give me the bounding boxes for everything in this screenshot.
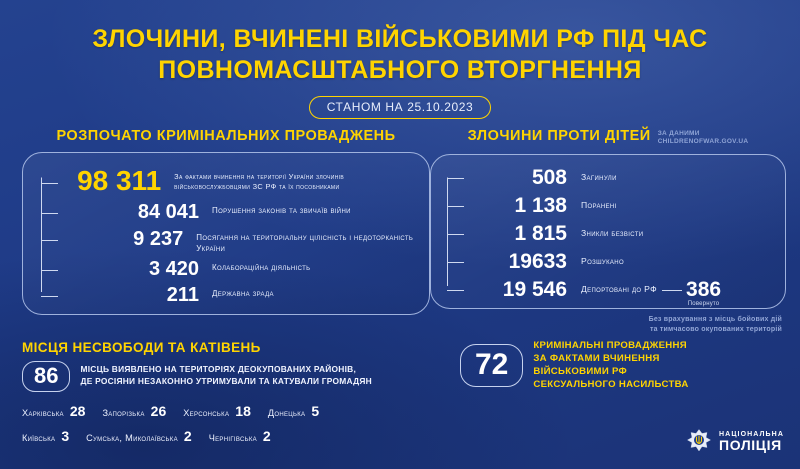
region-item: Київська 3 <box>22 428 69 444</box>
children-heading: ЗЛОЧИНИ ПРОТИ ДІТЕЙ <box>468 128 651 144</box>
logo-text: НАЦІОНАЛЬНА ПОЛІЦІЯ <box>719 431 784 453</box>
region-value: 26 <box>151 403 167 419</box>
children-label-missing: Зникли безвісти <box>567 223 643 239</box>
bracket-tick-icon <box>41 296 58 297</box>
criminal-proceedings-rows: 98 311 За фактами вчинення на території … <box>41 167 415 304</box>
children-value-killed: 508 <box>471 167 567 188</box>
children-value-missing: 1 815 <box>471 223 567 244</box>
section-crimes-against-children: ЗЛОЧИНИ ПРОТИ ДІТЕЙ ЗА ДАНИМИ CHILDRENOF… <box>430 128 800 334</box>
proceedings-value-collaboration: 3 420 <box>67 259 199 279</box>
children-value-returned: 386 <box>686 278 721 301</box>
region-name: Запорізька <box>102 408 144 418</box>
sexual-violence-count-badge: 72 <box>460 344 523 387</box>
children-heading-wrap: ЗЛОЧИНИ ПРОТИ ДІТЕЙ ЗА ДАНИМИ CHILDRENOF… <box>430 128 786 146</box>
proceedings-value-war-laws: 84 041 <box>67 202 199 222</box>
region-value: 18 <box>235 403 251 419</box>
page-title: ЗЛОЧИНИ, ВЧИНЕНІ ВІЙСЬКОВИМИ РФ ПІД ЧАС … <box>0 24 800 85</box>
list-item: 508 Загинули <box>471 167 773 188</box>
detention-count-row: 86 МІСЦЬ ВИЯВЛЕНО НА ТЕРИТОРІЯХ ДЕОКУПОВ… <box>22 361 440 392</box>
bracket-line-icon <box>41 177 59 292</box>
list-item: 9 237 Посягання на територіальну цілісні… <box>67 229 415 254</box>
proceedings-value-territorial: 9 237 <box>67 229 183 249</box>
region-name: Донецька <box>268 408 306 418</box>
sexual-violence-row: 72 КРИМІНАЛЬНІ ПРОВАДЖЕННЯ ЗА ФАКТАМИ ВЧ… <box>460 340 800 391</box>
criminal-proceedings-panel: 98 311 За фактами вчинення на території … <box>22 152 430 315</box>
title-line-1: ЗЛОЧИНИ, ВЧИНЕНІ ВІЙСЬКОВИМИ РФ ПІД ЧАС <box>92 25 707 53</box>
region-name: Харківська <box>22 408 64 418</box>
proceedings-label-collaboration: Колабораційна діяльність <box>199 259 310 274</box>
section-criminal-proceedings: РОЗПОЧАТО КРИМІНАЛЬНИХ ПРОВАДЖЕНЬ 98 311… <box>0 128 430 334</box>
children-rows: 508 Загинули 1 138 Поранені 1 815 Зникли… <box>447 167 773 298</box>
list-item: 211 Державна зрада <box>67 285 415 305</box>
connector-dash-icon <box>662 290 682 291</box>
list-item: 1 138 Поранені <box>471 195 773 216</box>
list-item: 3 420 Колабораційна діяльність <box>67 259 415 279</box>
section-detention-places: МІСЦЯ НЕСВОБОДИ ТА КАТІВЕНЬ 86 МІСЦЬ ВИЯ… <box>0 340 440 453</box>
region-name: Херсонська <box>183 408 229 418</box>
children-panel: 508 Загинули 1 138 Поранені 1 815 Зникли… <box>430 154 786 309</box>
regions-row-2: Київська 3 Сумська, Миколаївська 2 Черні… <box>22 428 440 444</box>
region-item: Донецька 5 <box>268 403 319 419</box>
sexual-violence-line-4: СЕКСУАЛЬНОГО НАСИЛЬСТВА <box>533 379 688 390</box>
region-value: 2 <box>263 428 271 444</box>
region-item: Харківська 28 <box>22 403 85 419</box>
list-item: 84 041 Порушення законів та звичаїв війн… <box>67 202 415 222</box>
list-item: 19 546 Депортовані до РФ 386 Повернуто <box>471 279 773 307</box>
footnote-line-2: та тимчасово окупованих територій <box>650 326 782 333</box>
source-line-2: CHILDRENOFWAR.GOV.UA <box>658 138 749 145</box>
bracket-tick-icon <box>41 270 58 271</box>
footnote-line-1: Без врахування з місць бойових дій <box>649 316 782 323</box>
region-item: Запорізька 26 <box>102 403 166 419</box>
bracket-tick-icon <box>447 290 464 291</box>
list-item: 19633 Розшукано <box>471 251 773 272</box>
header: ЗЛОЧИНИ, ВЧИНЕНІ ВІЙСЬКОВИМИ РФ ПІД ЧАС … <box>0 0 800 119</box>
region-item: Херсонська 18 <box>183 403 251 419</box>
sexual-violence-description: КРИМІНАЛЬНІ ПРОВАДЖЕННЯ ЗА ФАКТАМИ ВЧИНЕ… <box>533 340 688 391</box>
proceedings-value-treason: 211 <box>67 285 199 305</box>
criminal-proceedings-heading: РОЗПОЧАТО КРИМІНАЛЬНИХ ПРОВАДЖЕНЬ <box>22 128 430 144</box>
bracket-tick-icon <box>447 206 464 207</box>
proceedings-label-treason: Державна зрада <box>199 285 274 300</box>
region-value: 3 <box>61 428 69 444</box>
bracket-tick-icon <box>41 213 58 214</box>
bracket-tick-icon <box>41 240 58 241</box>
region-name: Київська <box>22 433 55 443</box>
logo-line-2: ПОЛІЦІЯ <box>719 438 784 453</box>
list-item: 1 815 Зникли безвісти <box>471 223 773 244</box>
regions-row-1: Харківська 28 Запорізька 26 Херсонська 1… <box>22 403 440 419</box>
children-label-deported: Депортовані до РФ <box>567 279 657 295</box>
region-name: Сумська, Миколаївська <box>86 433 178 443</box>
bracket-line-icon <box>447 177 465 286</box>
sexual-violence-line-1: КРИМІНАЛЬНІ ПРОВАДЖЕННЯ <box>533 340 687 351</box>
returned-block: 386 Повернуто <box>686 279 721 307</box>
bracket-tick-icon <box>447 178 464 179</box>
infographic-root: ЗЛОЧИНИ, ВЧИНЕНІ ВІЙСЬКОВИМИ РФ ПІД ЧАС … <box>0 0 800 469</box>
children-label-found: Розшукано <box>567 251 624 267</box>
children-value-wounded: 1 138 <box>471 195 567 216</box>
main-columns: РОЗПОЧАТО КРИМІНАЛЬНИХ ПРОВАДЖЕНЬ 98 311… <box>0 128 800 334</box>
children-label-wounded: Поранені <box>567 195 617 211</box>
national-police-logo: НАЦІОНАЛЬНА ПОЛІЦІЯ <box>687 429 784 455</box>
proceedings-label-territorial: Посягання на територіальну цілісність і … <box>183 229 415 254</box>
proceedings-label-war-laws: Порушення законів та звичаїв війни <box>199 202 351 217</box>
children-source-note: ЗА ДАНИМИ CHILDRENOFWAR.GOV.UA <box>658 128 749 146</box>
region-value: 2 <box>184 428 192 444</box>
list-item: 98 311 За фактами вчинення на території … <box>67 167 415 195</box>
detention-description: МІСЦЬ ВИЯВЛЕНО НА ТЕРИТОРІЯХ ДЕОКУПОВАНИ… <box>80 364 371 388</box>
sexual-violence-line-2: ЗА ФАКТАМИ ВЧИНЕННЯ <box>533 353 659 364</box>
regions-breakdown: Харківська 28 Запорізька 26 Херсонська 1… <box>22 403 440 444</box>
source-line-1: ЗА ДАНИМИ <box>658 130 700 137</box>
region-value: 28 <box>70 403 86 419</box>
deported-returned-group: Депортовані до РФ 386 Повернуто <box>567 279 721 307</box>
police-badge-icon <box>687 429 711 455</box>
children-label-returned: Повернуто <box>686 301 721 307</box>
detention-count-badge: 86 <box>22 361 70 392</box>
bracket-tick-icon <box>41 183 58 184</box>
detention-heading: МІСЦЯ НЕСВОБОДИ ТА КАТІВЕНЬ <box>22 340 440 355</box>
children-label-killed: Загинули <box>567 167 617 183</box>
region-item: Чернігівська 2 <box>209 428 271 444</box>
sexual-violence-line-3: ВІЙСЬКОВИМИ РФ <box>533 366 627 377</box>
proceedings-value-total: 98 311 <box>67 167 161 195</box>
proceedings-label-total: За фактами вчинення на території України… <box>161 167 415 192</box>
children-value-deported: 19 546 <box>471 279 567 300</box>
children-value-found: 19633 <box>471 251 567 272</box>
detention-description-line-2: ДЕ РОСІЯНИ НЕЗАКОННО УТРИМУВАЛИ ТА КАТУВ… <box>80 376 371 386</box>
title-line-2: ПОВНОМАСШТАБНОГО ВТОРГНЕННЯ <box>0 55 800 86</box>
detention-description-line-1: МІСЦЬ ВИЯВЛЕНО НА ТЕРИТОРІЯХ ДЕОКУПОВАНИ… <box>80 364 356 374</box>
region-name: Чернігівська <box>209 433 257 443</box>
bracket-tick-icon <box>447 234 464 235</box>
bracket-tick-icon <box>447 262 464 263</box>
status-badge-date: СТАНОМ НА 25.10.2023 <box>309 96 492 119</box>
bottom-sections: МІСЦЯ НЕСВОБОДИ ТА КАТІВЕНЬ 86 МІСЦЬ ВИЯ… <box>0 340 800 453</box>
region-item: Сумська, Миколаївська 2 <box>86 428 192 444</box>
region-value: 5 <box>311 403 319 419</box>
children-footnote: Без врахування з місць бойових дій та ти… <box>430 315 786 334</box>
